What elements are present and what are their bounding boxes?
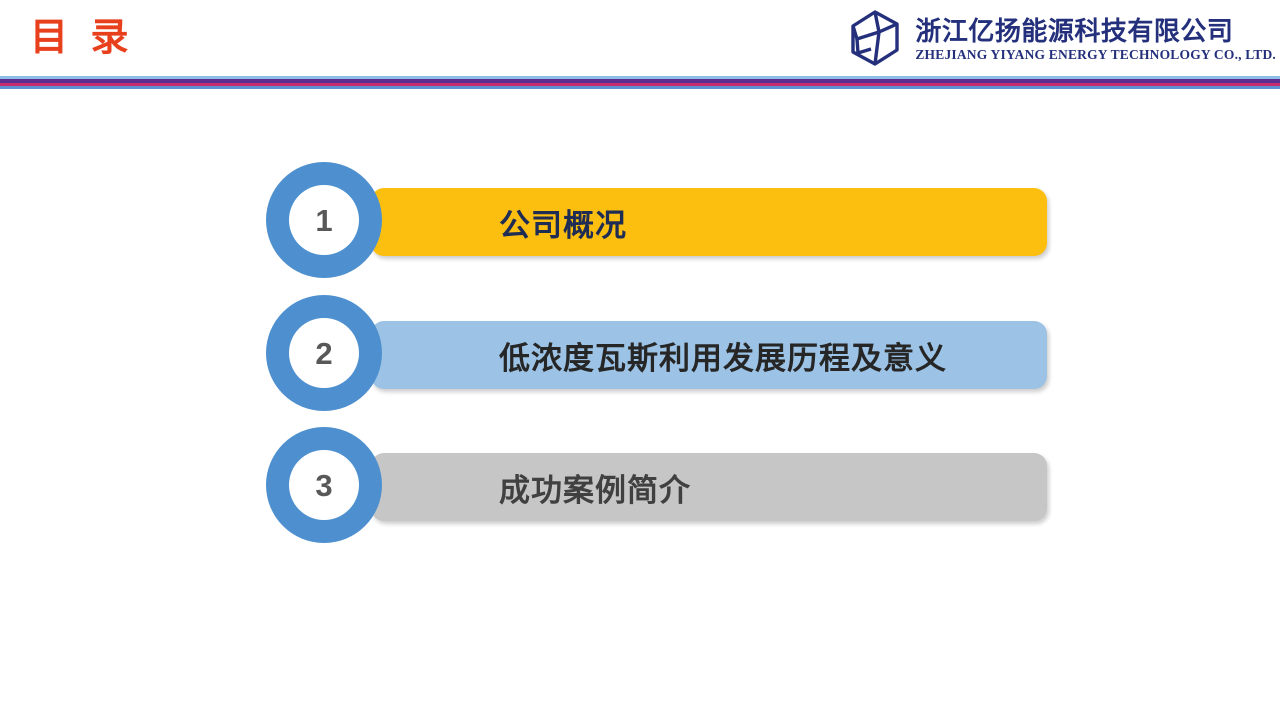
- toc-circle-2[interactable]: 2: [266, 295, 382, 411]
- toc-circle-inner-2: 2: [289, 318, 359, 388]
- toc-circle-3[interactable]: 3: [266, 427, 382, 543]
- toc-bar-2[interactable]: 低浓度瓦斯利用发展历程及意义: [371, 321, 1047, 389]
- toc-circle-1[interactable]: 1: [266, 162, 382, 278]
- toc-number-1: 1: [315, 205, 332, 236]
- toc-label-1: 公司概况: [499, 200, 627, 245]
- toc-circle-inner-1: 1: [289, 185, 359, 255]
- toc-label-2: 低浓度瓦斯利用发展历程及意义: [499, 333, 947, 378]
- toc-number-2: 2: [315, 338, 332, 369]
- toc-number-3: 3: [315, 470, 332, 501]
- toc-bar-1[interactable]: 公司概况: [371, 188, 1047, 256]
- toc-item-2[interactable]: 低浓度瓦斯利用发展历程及意义 2: [266, 288, 1056, 421]
- toc-item-3[interactable]: 成功案例简介 3: [266, 420, 1056, 553]
- toc-bar-3[interactable]: 成功案例简介: [371, 453, 1047, 521]
- toc-label-3: 成功案例简介: [499, 465, 691, 510]
- toc-item-1[interactable]: 公司概况 1: [266, 155, 1056, 288]
- toc-list: 公司概况 1 低浓度瓦斯利用发展历程及意义 2 成功案例简介: [0, 0, 1280, 720]
- toc-circle-inner-3: 3: [289, 450, 359, 520]
- slide-root: 目 录 浙江亿扬能源科技有限公司 ZHEJIANG YIYANG ENERGY …: [0, 0, 1280, 720]
